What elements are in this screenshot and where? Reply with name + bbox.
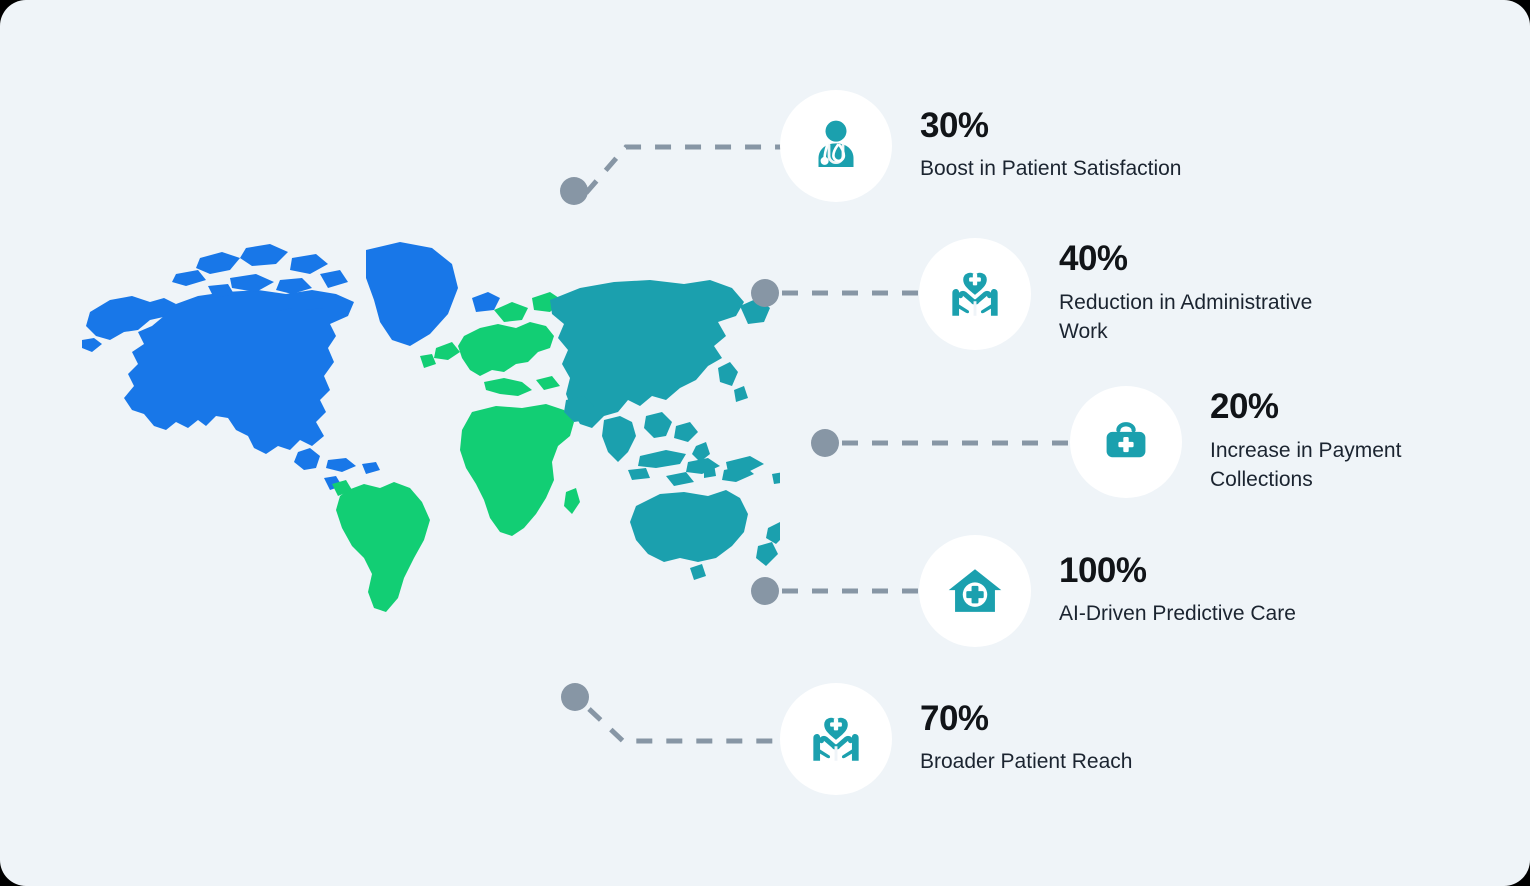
map-region-africa	[460, 404, 580, 536]
stat-value: 40%	[1059, 241, 1319, 278]
medical-kit-icon	[1099, 415, 1153, 469]
stat-label: AI-Driven Predictive Care	[1059, 599, 1296, 629]
hands-holding-heart-icon	[946, 265, 1004, 323]
stat-text-block: 40% Reduction in Administrative Work	[1059, 241, 1319, 347]
connector-dot	[560, 177, 588, 205]
stat-icon-badge	[919, 535, 1031, 647]
infographic-canvas: 30% Boost in Patient Satisfaction 40% Re…	[0, 0, 1530, 886]
connector-dot	[811, 429, 839, 457]
stat-icon-badge	[780, 90, 892, 202]
stat-text-block: 30% Boost in Patient Satisfaction	[920, 108, 1182, 185]
stat-label: Broader Patient Reach	[920, 747, 1132, 777]
stat-text-block: 70% Broader Patient Reach	[920, 701, 1132, 778]
hands-holding-heart-icon	[807, 710, 865, 768]
clinic-house-icon	[946, 562, 1004, 620]
map-region-asia	[550, 280, 770, 486]
stat-item-administrative-work[interactable]: 40% Reduction in Administrative Work	[919, 238, 1319, 350]
stat-label: Increase in Payment Collections	[1210, 436, 1470, 496]
world-map	[80, 240, 780, 640]
stat-item-patient-reach[interactable]: 70% Broader Patient Reach	[780, 683, 1132, 795]
stat-value: 30%	[920, 108, 1182, 145]
stat-icon-badge	[780, 683, 892, 795]
connector-patient-reach	[545, 675, 800, 770]
connector-patient-satisfaction	[540, 120, 800, 220]
stat-label: Boost in Patient Satisfaction	[920, 154, 1182, 184]
connector-payment-collections	[800, 420, 1090, 466]
stat-icon-badge	[919, 238, 1031, 350]
stat-text-block: 20% Increase in Payment Collections	[1210, 389, 1470, 495]
stat-value: 70%	[920, 701, 1132, 738]
map-region-north-america	[82, 242, 500, 490]
doctor-stethoscope-icon	[808, 118, 864, 174]
stat-item-predictive-care[interactable]: 100% AI-Driven Predictive Care	[919, 535, 1296, 647]
stat-item-patient-satisfaction[interactable]: 30% Boost in Patient Satisfaction	[780, 90, 1182, 202]
stat-value: 20%	[1210, 389, 1470, 426]
stat-value: 100%	[1059, 553, 1296, 590]
stat-label: Reduction in Administrative Work	[1059, 288, 1319, 348]
stat-text-block: 100% AI-Driven Predictive Care	[1059, 553, 1296, 630]
stat-item-payment-collections[interactable]: 20% Increase in Payment Collections	[1070, 386, 1470, 498]
map-region-south-america	[332, 480, 430, 612]
connector-dot	[561, 683, 589, 711]
stat-icon-badge	[1070, 386, 1182, 498]
